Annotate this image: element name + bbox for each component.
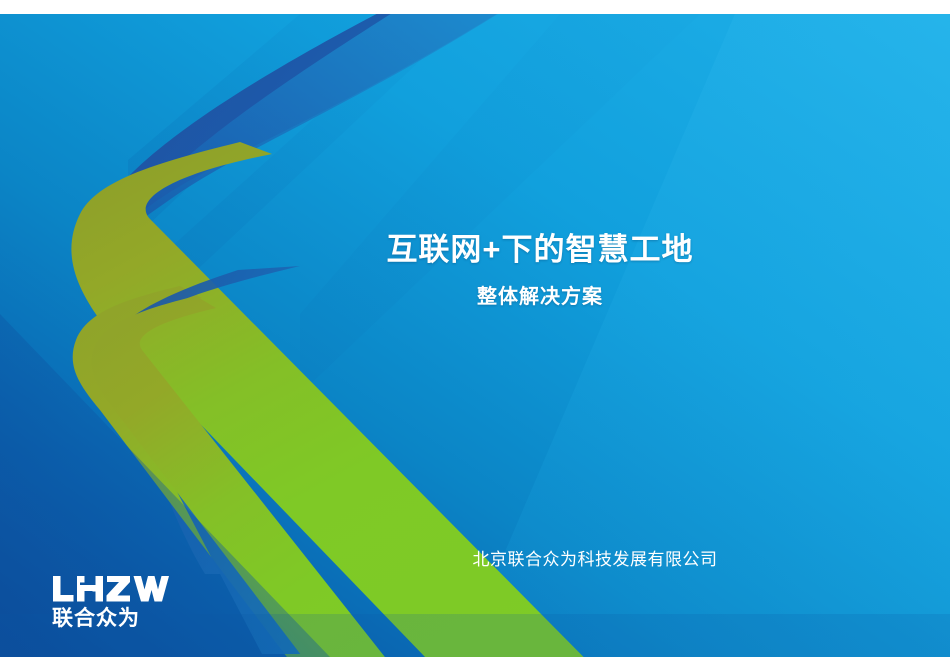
logo-wordmark-lhzw: [52, 574, 174, 604]
logo-chinese-name-text: 联合众为: [52, 606, 140, 630]
company-name: 北京联合众为科技发展有限公司: [380, 545, 810, 570]
page-subtitle: 整体解决方案: [330, 284, 750, 310]
company-block: 北京联合众为科技发展有限公司: [380, 545, 810, 570]
slide-canvas: 互联网+下的智慧工地 整体解决方案 北京联合众为科技发展有限公司: [0, 14, 950, 657]
title-block: 互联网+下的智慧工地 整体解决方案: [330, 231, 750, 310]
slide-frame: 互联网+下的智慧工地 整体解决方案 北京联合众为科技发展有限公司: [0, 0, 950, 672]
logo-chinese-name: 联合众为: [52, 605, 172, 631]
company-logo: 联合众为: [52, 574, 182, 631]
page-title: 互联网+下的智慧工地: [330, 231, 750, 270]
